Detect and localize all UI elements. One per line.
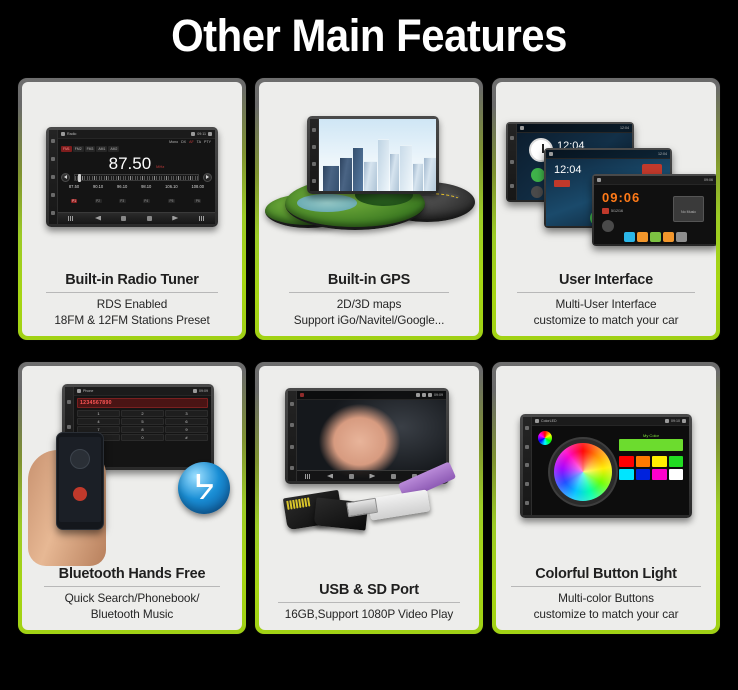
building-tower (378, 139, 389, 191)
tune-down-button[interactable] (61, 173, 70, 182)
preset-1[interactable]: 87.50 P1 (69, 184, 79, 207)
side-rail (523, 417, 532, 515)
preset-3[interactable]: 96.10 P3 (117, 184, 127, 207)
feature-card-gps: Built-in GPS 2D/3D maps Support iGo/Navi… (255, 78, 483, 340)
bluetooth-status-icon (665, 419, 669, 423)
dial-key-hash[interactable]: # (165, 434, 208, 441)
clock-display: 12:04 (554, 164, 582, 176)
button-light-captions: Colorful Button Light Multi-color Button… (496, 565, 716, 630)
rail-icon[interactable] (290, 466, 294, 470)
rail-icon[interactable] (510, 136, 514, 140)
usb-icon (428, 393, 432, 397)
status-time: 09:09 (199, 389, 208, 393)
dock-icon-5[interactable] (676, 232, 687, 242)
phone-app-icon[interactable] (531, 168, 545, 182)
swatch-yellow[interactable] (652, 456, 667, 467)
dial-key-9[interactable]: 9 (165, 426, 208, 433)
calendar-icon (602, 208, 609, 214)
radio-tuner-captions: Built-in Radio Tuner RDS Enabled 18FM & … (22, 271, 242, 336)
radio-option-dx[interactable]: DX (181, 140, 186, 144)
radio-option-mono[interactable]: Mono (169, 140, 178, 144)
home-icon[interactable] (77, 389, 81, 393)
dial-key-6[interactable]: 6 (165, 418, 208, 425)
rail-icon[interactable] (525, 445, 529, 449)
band-fm3[interactable]: FM3 (85, 146, 96, 152)
building (353, 147, 363, 191)
rail-icon[interactable] (51, 193, 55, 197)
swatch-blue[interactable] (636, 469, 651, 480)
band-fm2[interactable]: FM2 (73, 146, 84, 152)
preset-tag: P4 (143, 199, 150, 203)
gps-icon (422, 393, 426, 397)
swatch-red[interactable] (619, 456, 634, 467)
preset-4[interactable]: 98.10 P4 (141, 184, 151, 207)
card-line-2: Bluetooth Music (28, 606, 236, 622)
my-color-label: My Color (619, 433, 683, 438)
feature-card-bluetooth: Phone 09:09 1234567890 (18, 362, 246, 634)
card-title: User Interface (559, 271, 653, 290)
dial-key-2[interactable]: 2 (121, 410, 164, 417)
rail-icon[interactable] (525, 463, 529, 467)
sd-contacts (286, 497, 310, 509)
head-unit-video: 09:09 (285, 388, 449, 484)
radio-tuner-artwork: Radio 09:11 Mono (22, 82, 242, 271)
usb-sd-captions: USB & SD Port 16GB,Support 1080P Video P… (259, 581, 479, 630)
rail-icon[interactable] (510, 184, 514, 188)
building (323, 165, 339, 191)
home-icon[interactable] (520, 126, 524, 130)
preset-tag: P2 (95, 199, 102, 203)
status-time: 09:06 (704, 178, 713, 182)
user-interface-artwork: 12:04 12:04 (496, 82, 716, 271)
frequency-unit: MHz (156, 164, 164, 169)
radio-option-ta[interactable]: TA (197, 140, 201, 144)
dial-key-3[interactable]: 3 (165, 410, 208, 417)
menu-icon[interactable] (199, 216, 205, 221)
head-unit-gps (307, 116, 439, 194)
bluetooth-icon: ᔭ (178, 462, 230, 514)
home-icon[interactable] (61, 132, 65, 136)
band-am2[interactable]: AM2 (108, 146, 119, 152)
bluetooth-glyph: ᔭ (193, 471, 214, 505)
preset-2[interactable]: 90.10 P2 (93, 184, 103, 207)
title-rule (46, 292, 218, 293)
user-interface-captions: User Interface Multi-User Interface cust… (496, 271, 716, 336)
color-swatch-grid (619, 456, 683, 480)
lake-shape (297, 194, 357, 212)
bluetooth-artwork: Phone 09:09 1234567890 (22, 366, 242, 565)
rail-icon[interactable] (312, 128, 316, 132)
preset-frequency: 96.10 (117, 184, 127, 189)
ui-screen-front: 09:06 09:06 5/12/16 No Music (592, 174, 716, 246)
building (340, 157, 352, 191)
page-title: Other Main Features (26, 0, 712, 78)
feature-card-usb-sd: 09:09 (255, 362, 483, 634)
dial-key-0[interactable]: 0 (121, 434, 164, 441)
rail-icon[interactable] (312, 162, 316, 166)
app-label: Radio (67, 132, 76, 136)
preset-list: 87.50 P1 90.10 P2 96.10 (58, 184, 215, 207)
home-icon[interactable] (535, 419, 539, 423)
dock-icon-2[interactable] (637, 232, 648, 242)
bluetooth-captions: Bluetooth Hands Free Quick Search/Phoneb… (22, 565, 242, 630)
status-time: 09:10 (671, 419, 680, 423)
dock-icon-1[interactable] (624, 232, 635, 242)
status-bar: ColorLED 09:10 (532, 417, 689, 426)
tuner-scale[interactable] (74, 174, 199, 181)
swatch-green[interactable] (669, 456, 684, 467)
card-line-1: 16GB,Support 1080P Video Play (265, 606, 473, 622)
app-label: ColorLED (541, 419, 557, 423)
color-wheel[interactable] (554, 443, 612, 501)
card-line-2: 18FM & 12FM Stations Preset (28, 312, 236, 328)
eq-icon[interactable] (305, 474, 311, 479)
swatch-orange[interactable] (636, 456, 651, 467)
dialed-number-field[interactable]: 1234567890 (77, 398, 208, 408)
head-unit-color: ColorLED 09:10 (520, 414, 692, 518)
preset-frequency: 90.10 (93, 184, 103, 189)
band-fm1[interactable]: FM1 (61, 146, 72, 152)
feature-infographic: Other Main Features (0, 0, 738, 690)
player-control-bar (58, 212, 215, 224)
card-line-2: Support iGo/Navitel/Google... (265, 312, 473, 328)
rail-icon[interactable] (510, 160, 514, 164)
title-rule (289, 292, 449, 293)
eq-icon[interactable] (68, 216, 74, 221)
building (413, 163, 423, 191)
feature-card-radio-tuner: Radio 09:11 Mono (18, 78, 246, 340)
rail-icon[interactable] (290, 445, 294, 449)
card-title: Colorful Button Light (535, 565, 677, 584)
app-label: Phone (83, 389, 93, 393)
swatch-magenta[interactable] (652, 469, 667, 480)
no-music-button[interactable]: No Music (673, 196, 704, 222)
dial-key-5[interactable]: 5 (121, 418, 164, 425)
swatch-white[interactable] (669, 469, 684, 480)
preset-5[interactable]: 106.10 P5 (165, 184, 178, 207)
clock-display: 09:06 (602, 190, 640, 205)
card-line-2: customize to match your car (502, 312, 710, 328)
building (424, 157, 436, 191)
band-am1[interactable]: AM1 (96, 146, 107, 152)
rail-icon[interactable] (51, 175, 55, 179)
rail-icon[interactable] (312, 179, 316, 183)
preset-frequency: 98.10 (141, 184, 151, 189)
preset-frequency: 106.10 (165, 184, 178, 189)
building (400, 145, 412, 191)
side-rail (288, 391, 297, 481)
contact-avatar (70, 449, 90, 469)
rail-icon[interactable] (51, 157, 55, 161)
feature-card-user-interface: 12:04 12:04 (492, 78, 720, 340)
title-rule (278, 602, 460, 603)
button-light-artwork: ColorLED 09:10 (496, 366, 716, 565)
feature-card-button-light: ColorLED 09:10 (492, 362, 720, 634)
preset-tag: P6 (194, 199, 201, 203)
status-time: 12:04 (620, 126, 629, 130)
building (364, 161, 377, 191)
preset-6[interactable]: 108.00 P6 (192, 184, 205, 207)
dock-icon-4[interactable] (663, 232, 674, 242)
rail-icon[interactable] (51, 139, 55, 143)
scan-icon[interactable] (121, 216, 126, 221)
next-icon[interactable] (369, 474, 375, 479)
stop-icon[interactable] (391, 474, 396, 479)
status-bar: Radio 09:11 (58, 130, 215, 139)
back-icon[interactable] (682, 419, 686, 423)
side-rail (310, 119, 319, 191)
feature-card-grid: Radio 09:11 Mono (0, 78, 738, 634)
band-selector: FM1 FM2 FM3 AM1 AM2 (58, 144, 215, 152)
preset-frequency: 87.50 (69, 184, 79, 189)
card-title: Built-in Radio Tuner (65, 271, 198, 290)
home-icon[interactable] (300, 393, 304, 397)
app-icon[interactable] (531, 186, 543, 198)
rail-icon[interactable] (525, 426, 529, 430)
head-unit-radio: Radio 09:11 Mono (46, 127, 218, 227)
status-time: 09:11 (197, 132, 206, 136)
radio-option-pty[interactable]: PTY (204, 140, 211, 144)
app-icon[interactable] (602, 220, 614, 232)
title-rule (44, 586, 220, 587)
tune-up-button[interactable] (203, 173, 212, 182)
card-title: Bluetooth Hands Free (59, 565, 206, 584)
usb-sd-artwork: 09:09 (259, 366, 479, 581)
video-frame (297, 391, 446, 481)
back-icon[interactable] (208, 132, 212, 136)
dial-key-4[interactable]: 4 (77, 418, 120, 425)
preset-tag: P1 (71, 199, 78, 203)
previous-icon[interactable] (327, 474, 333, 479)
card-line-1: Multi-User Interface (502, 296, 710, 312)
phone-screen (59, 437, 101, 522)
swatch-cyan[interactable] (619, 469, 634, 480)
end-call-button[interactable] (73, 487, 87, 501)
bluetooth-status-icon (193, 389, 197, 393)
color-app-icon[interactable] (538, 431, 552, 445)
no-music-label: No Music (681, 210, 696, 214)
rail-icon[interactable] (525, 501, 529, 505)
rail-icon[interactable] (290, 423, 294, 427)
smartphone (56, 432, 104, 530)
title-rule (517, 292, 695, 293)
status-time: 12:04 (658, 152, 667, 156)
rail-icon[interactable] (67, 425, 71, 429)
list-icon[interactable] (147, 216, 152, 221)
date-label: 5/12/16 (611, 209, 623, 213)
dial-key-8[interactable]: 8 (121, 426, 164, 433)
rail-icon[interactable] (67, 400, 71, 404)
dock-icon-3[interactable] (650, 232, 661, 242)
gps-captions: Built-in GPS 2D/3D maps Support iGo/Navi… (259, 271, 479, 336)
card-line-1: Quick Search/Phonebook/ (28, 590, 236, 606)
home-icon[interactable] (549, 152, 553, 156)
dial-key-1[interactable]: 1 (77, 410, 120, 417)
pause-icon[interactable] (349, 474, 354, 479)
preset-frequency: 108.00 (192, 184, 205, 189)
date-badge (554, 180, 570, 187)
building (390, 153, 399, 191)
home-icon[interactable] (597, 178, 601, 182)
rail-icon[interactable] (290, 402, 294, 406)
app-dock (598, 232, 712, 242)
side-rail (508, 124, 517, 200)
side-rail (49, 130, 58, 224)
status-bar: Phone 09:09 (74, 387, 211, 396)
rail-icon[interactable] (525, 482, 529, 486)
previous-icon[interactable] (95, 216, 101, 221)
card-line-1: 2D/3D maps (265, 296, 473, 312)
rail-icon[interactable] (51, 211, 55, 215)
frequency-display: 87.50 (109, 154, 152, 173)
card-line-1: Multi-color Buttons (502, 590, 710, 606)
preset-tag: P5 (168, 199, 175, 203)
radio-option-af[interactable]: AF (189, 140, 194, 144)
card-line-1: RDS Enabled (28, 296, 236, 312)
usb-flash-drive (368, 489, 431, 520)
rail-icon[interactable] (312, 145, 316, 149)
status-time: 09:09 (434, 393, 443, 397)
card-title: Built-in GPS (328, 271, 410, 290)
preset-tag: P3 (119, 199, 126, 203)
sd-icon (416, 393, 420, 397)
gps-artwork (259, 82, 479, 271)
gps-icon (191, 132, 195, 136)
tuner-knob[interactable] (78, 174, 81, 182)
card-title: USB & SD Port (319, 581, 419, 600)
my-color-preview (619, 439, 683, 451)
next-icon[interactable] (172, 216, 178, 221)
title-rule (511, 586, 701, 587)
card-line-2: customize to match your car (502, 606, 710, 622)
